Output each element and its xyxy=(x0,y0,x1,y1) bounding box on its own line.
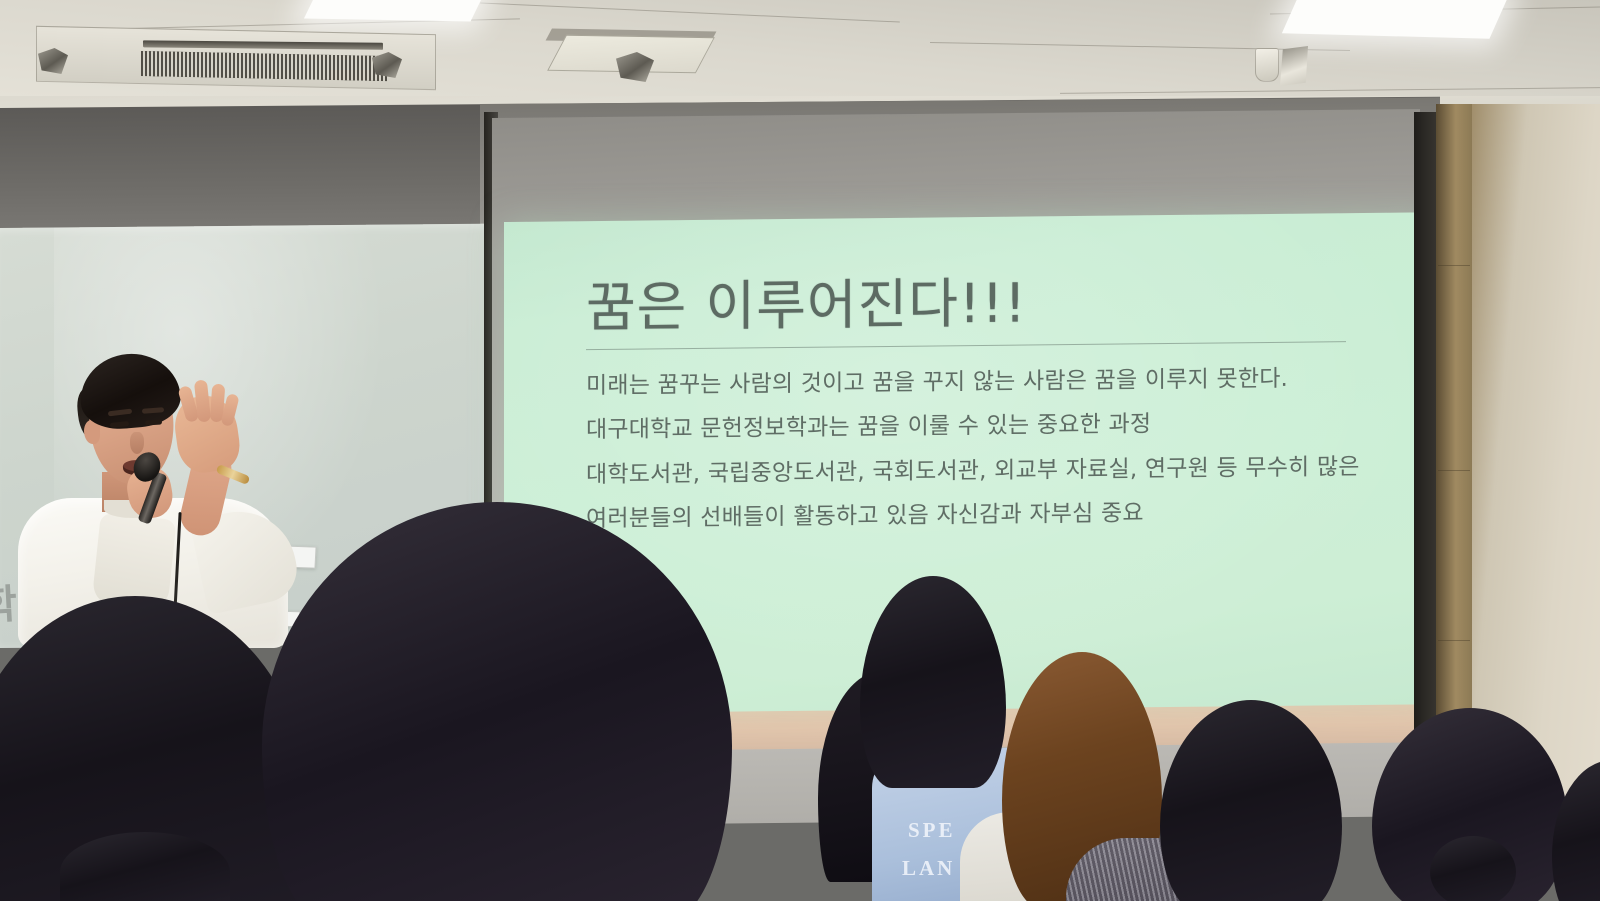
lecture-photo-scene: 학생 후... ...이 강의 꿈은 이루어진다!!! 미래는 꿈꾸는 사람의 … xyxy=(0,0,1600,901)
light-panel-right-icon xyxy=(1282,0,1508,39)
slide-title: 꿈은 이루어진다!!! xyxy=(586,271,1376,338)
ac-blade xyxy=(143,40,383,50)
slide-body: 미래는 꿈꾸는 사람의 것이고 꿈을 꾸지 않는 사람은 꿈을 이루지 못한다.… xyxy=(586,356,1376,541)
slide-body-line-3: 대학도서관, 국립중앙도서관, 국회도서관, 외교부 자료실, 연구원 등 무수… xyxy=(586,444,1376,496)
shirt-text-line-1: SPE xyxy=(908,818,956,843)
speaker-nose xyxy=(130,432,144,454)
ceiling-vent-hole xyxy=(1280,46,1308,86)
shirt-text-line-2: LAN xyxy=(902,856,955,881)
ac-grille xyxy=(141,51,387,81)
slide-body-line-1: 미래는 꿈꾸는 사람의 것이고 꿈을 꾸지 않는 사람은 꿈을 이루지 못한다. xyxy=(586,356,1376,408)
slide-divider xyxy=(586,341,1346,350)
right-wall-seam xyxy=(1438,265,1470,266)
slide-content: 꿈은 이루어진다!!! 미래는 꿈꾸는 사람의 것이고 꿈을 꾸지 않는 사람은… xyxy=(586,271,1376,541)
right-wall-seam xyxy=(1438,640,1470,641)
slide-body-line-4: 여러분들의 선배들이 활동하고 있음 자신감과 자부심 중요 xyxy=(586,489,1376,541)
audience-hair-bun xyxy=(1430,836,1516,901)
ceiling-sensor-icon xyxy=(1255,48,1279,82)
speaker xyxy=(0,340,330,640)
light-panel-left-icon xyxy=(304,0,488,21)
right-wall-seam xyxy=(1438,470,1470,471)
